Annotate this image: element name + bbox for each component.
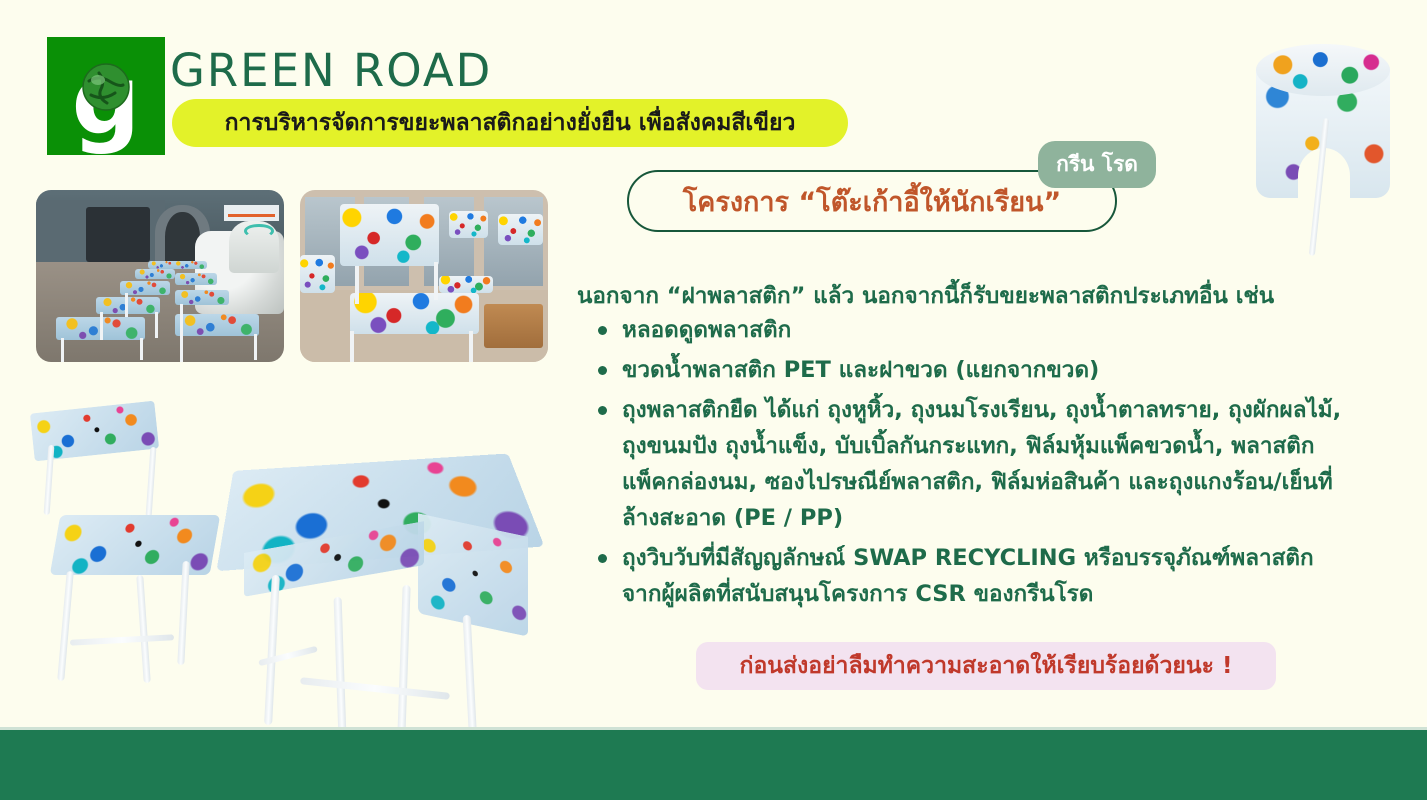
cleaning-reminder-callout: ก่อนส่งอย่าลืมทำความสะอาดให้เรียบร้อยด้ว… [696,642,1276,690]
accepted-plastics-list: หลอดดูดพลาสติก ขวดน้ำพลาสติก PET และฝาขว… [592,312,1352,616]
project-title-text: โครงการ “โต๊ะเก้าอี้ให้นักเรียน” [683,180,1061,223]
brand-title: GREEN ROAD [170,44,492,97]
green-road-logo: g [47,37,165,155]
photo-stools-outdoor [36,190,284,362]
photo-round-stool [1238,18,1408,258]
brand-tagline-text: การบริหารจัดการขยะพลาสติกอย่างยั่งยืน เพ… [225,105,796,141]
list-item: ถุงวิบวับที่มีสัญญลักษณ์ SWAP RECYCLING … [592,540,1352,612]
photo-workshop-furniture [300,190,548,362]
intro-paragraph: นอกจาก “ฝาพลาสติก” แล้ว นอกจากนี้ก็รับขย… [577,277,1274,313]
footer-band [0,730,1427,800]
list-item: หลอดดูดพลาสติก [592,312,1352,348]
green-road-thai-tag: กรีน โรด [1038,141,1156,188]
photo-chair-and-desk [0,385,560,745]
cleaning-reminder-text: ก่อนส่งอย่าลืมทำความสะอาดให้เรียบร้อยด้ว… [740,648,1233,684]
logo-g-globe-icon: g [47,37,165,155]
slide-canvas: g GREEN ROAD การบริหารจัดการขยะพลาสติกอย… [0,0,1427,800]
green-road-thai-tag-label: กรีน โรด [1056,148,1138,181]
brand-tagline-banner: การบริหารจัดการขยะพลาสติกอย่างยั่งยืน เพ… [172,99,848,147]
list-item: ขวดน้ำพลาสติก PET และฝาขวด (แยกจากขวด) [592,352,1352,388]
list-item: ถุงพลาสติกยืด ได้แก่ ถุงหูหิ้ว, ถุงนมโรง… [592,392,1352,536]
